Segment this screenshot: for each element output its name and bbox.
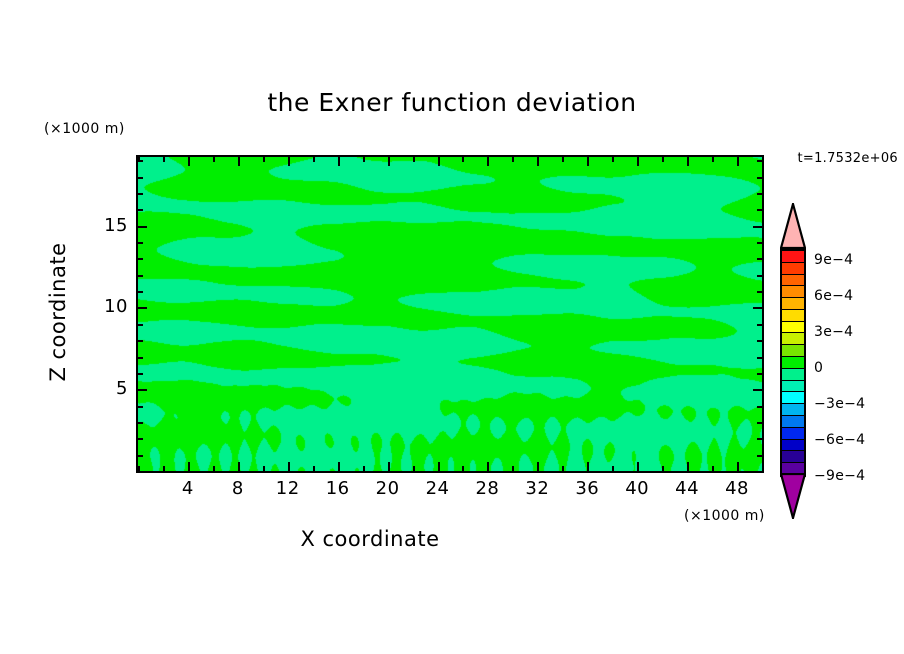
x-tick	[338, 462, 340, 471]
colorbar-band	[782, 440, 804, 452]
x-tick-top	[537, 157, 539, 166]
y-tick	[138, 455, 143, 457]
colorbar-band	[782, 310, 804, 322]
y-tick-right	[757, 193, 762, 195]
x-tick-top	[712, 157, 714, 162]
x-tick-top	[512, 157, 514, 162]
x-tick-label: 20	[368, 478, 408, 499]
x-tick	[263, 466, 265, 471]
x-tick	[662, 466, 664, 471]
colorbar-tick-label: −6e−4	[814, 432, 865, 448]
x-tick-label: 24	[418, 478, 458, 499]
colorbar-band	[782, 428, 804, 440]
x-tick-label: 36	[567, 478, 607, 499]
y-tick	[138, 177, 143, 179]
colorbar-band	[782, 416, 804, 428]
colorbar-tick-label: 3e−4	[814, 324, 853, 340]
x-axis-title: X coordinate	[0, 527, 740, 551]
y-tick-right	[757, 209, 762, 211]
x-tick-top	[462, 157, 464, 162]
time-annotation: t=1.7532e+06	[797, 151, 898, 166]
colorbar: 9e−46e−43e−40−3e−4−6e−4−9e−4	[780, 203, 806, 519]
x-tick-label: 44	[667, 478, 707, 499]
x-tick-label: 12	[268, 478, 308, 499]
y-tick	[138, 258, 143, 260]
colorbar-band	[782, 404, 804, 416]
y-tick	[138, 438, 143, 440]
colorbar-band	[782, 298, 804, 310]
colorbar-under-arrow	[780, 473, 806, 523]
y-tick-right	[757, 471, 762, 473]
y-tick	[138, 209, 143, 211]
y-tick-right	[757, 242, 762, 244]
x-tick	[462, 466, 464, 471]
y-tick	[138, 389, 147, 391]
x-tick-top	[363, 157, 365, 162]
x-tick-top	[313, 157, 315, 162]
colorbar-tick-label: −9e−4	[814, 468, 865, 484]
y-tick-right	[757, 422, 762, 424]
colorbar-band	[782, 275, 804, 287]
x-tick-top	[687, 157, 689, 166]
y-tick	[138, 307, 147, 309]
x-tick-top	[438, 157, 440, 166]
y-tick-right	[757, 160, 762, 162]
x-tick-top	[637, 157, 639, 166]
page-title: the Exner function deviation	[0, 88, 904, 117]
x-tick-label: 28	[467, 478, 507, 499]
y-tick	[138, 340, 143, 342]
x-tick-label: 8	[218, 478, 258, 499]
x-tick	[163, 466, 165, 471]
x-tick-top	[562, 157, 564, 162]
colorbar-band	[782, 381, 804, 393]
x-axis-units-label: (×1000 m)	[684, 508, 765, 524]
y-tick	[138, 226, 147, 228]
x-tick-top	[612, 157, 614, 162]
colorbar-tick-label: 9e−4	[814, 252, 853, 268]
x-tick-top	[762, 157, 764, 162]
x-tick	[413, 466, 415, 471]
x-tick-label: 16	[318, 478, 358, 499]
colorbar-band	[782, 345, 804, 357]
contour-field	[138, 157, 762, 471]
y-tick	[138, 242, 143, 244]
y-tick	[138, 160, 143, 162]
x-tick	[637, 462, 639, 471]
y-tick-right	[757, 340, 762, 342]
y-tick-right	[757, 258, 762, 260]
y-tick	[138, 291, 143, 293]
contour-plot-area	[136, 155, 764, 473]
x-tick-top	[288, 157, 290, 166]
y-tick-right	[753, 226, 762, 228]
y-tick-right	[753, 389, 762, 391]
colorbar-band	[782, 451, 804, 463]
x-tick	[687, 462, 689, 471]
colorbar-bands	[780, 249, 806, 477]
x-tick	[762, 466, 764, 471]
colorbar-band	[782, 286, 804, 298]
y-tick-right	[757, 438, 762, 440]
x-tick	[313, 466, 315, 471]
x-tick	[512, 466, 514, 471]
colorbar-over-arrow	[780, 203, 806, 253]
y-tick	[138, 324, 143, 326]
colorbar-tick-label: 6e−4	[814, 288, 853, 304]
x-tick	[487, 462, 489, 471]
x-tick-top	[662, 157, 664, 162]
y-tick	[138, 357, 143, 359]
colorbar-band	[782, 392, 804, 404]
x-tick	[562, 466, 564, 471]
y-tick-label: 5	[88, 378, 128, 399]
y-tick-right	[757, 275, 762, 277]
x-tick	[587, 462, 589, 471]
x-tick-label: 4	[168, 478, 208, 499]
colorbar-band	[782, 263, 804, 275]
x-tick	[363, 466, 365, 471]
x-tick	[737, 462, 739, 471]
x-tick	[188, 462, 190, 471]
y-tick	[138, 471, 143, 473]
y-tick-label: 15	[88, 215, 128, 236]
x-tick-top	[213, 157, 215, 162]
y-tick-right	[757, 406, 762, 408]
colorbar-band	[782, 251, 804, 263]
x-tick-label: 48	[717, 478, 757, 499]
y-tick-right	[757, 324, 762, 326]
x-tick	[238, 462, 240, 471]
colorbar-band	[782, 357, 804, 369]
colorbar-band	[782, 369, 804, 381]
x-tick	[537, 462, 539, 471]
x-tick-top	[587, 157, 589, 166]
x-tick-top	[737, 157, 739, 166]
colorbar-band	[782, 333, 804, 345]
y-tick-right	[753, 307, 762, 309]
x-tick-top	[188, 157, 190, 166]
y-axis-units-label: (×1000 m)	[44, 121, 125, 137]
y-tick-right	[757, 177, 762, 179]
y-tick	[138, 275, 143, 277]
colorbar-tick-label: 0	[814, 360, 823, 376]
x-tick	[213, 466, 215, 471]
y-tick-label: 10	[88, 296, 128, 317]
y-tick	[138, 373, 143, 375]
x-tick-top	[163, 157, 165, 162]
x-tick-label: 32	[517, 478, 557, 499]
colorbar-band	[782, 322, 804, 334]
figure-canvas: the Exner function deviation (×1000 m) t…	[0, 0, 904, 654]
x-tick	[712, 466, 714, 471]
x-tick	[288, 462, 290, 471]
x-tick-top	[388, 157, 390, 166]
x-tick-top	[238, 157, 240, 166]
x-tick-top	[263, 157, 265, 162]
y-tick-right	[757, 373, 762, 375]
y-tick	[138, 406, 143, 408]
x-tick	[388, 462, 390, 471]
y-tick-right	[757, 291, 762, 293]
y-tick	[138, 193, 143, 195]
y-axis-title: Z coordinate	[46, 182, 70, 442]
y-tick-right	[757, 357, 762, 359]
x-tick	[438, 462, 440, 471]
y-tick-right	[757, 455, 762, 457]
colorbar-tick-label: −3e−4	[814, 396, 865, 412]
x-tick-top	[413, 157, 415, 162]
y-tick	[138, 422, 143, 424]
x-tick-top	[338, 157, 340, 166]
x-tick-top	[487, 157, 489, 166]
x-tick	[612, 466, 614, 471]
x-tick-label: 40	[617, 478, 657, 499]
